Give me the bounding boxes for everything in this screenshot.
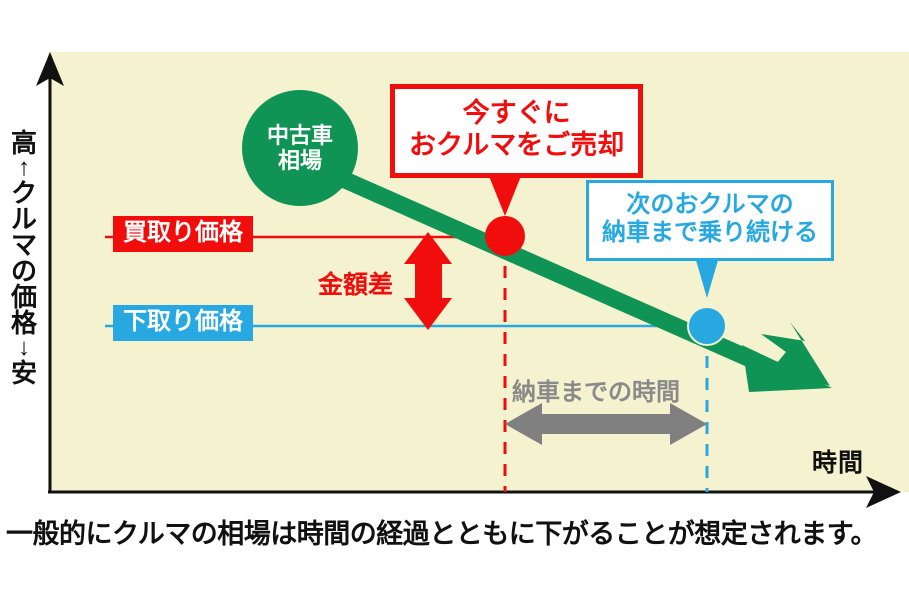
bubble-line-2: 相場 — [278, 148, 322, 173]
keep-driving-line-2: 納車まで乗り続ける — [602, 219, 818, 247]
y-axis-char-5: の — [2, 258, 46, 284]
y-axis-char-3: ル — [2, 206, 46, 232]
y-axis-char-9: 安 — [2, 360, 46, 386]
trade-price-tag: 下取り価格 — [113, 305, 253, 341]
y-axis-char-1: ↑ — [2, 156, 46, 180]
y-axis-label: 高 ↑ ク ル マ の 価 格 ↓ 安 — [2, 130, 46, 386]
sell-now-callout: 今すぐに おクルマをご売却 — [390, 84, 643, 178]
y-axis-char-7: 格 — [2, 310, 46, 336]
sell-now-line-1: 今すぐに — [409, 98, 624, 130]
infographic-root: 高 ↑ ク ル マ の 価 格 ↓ 安 時間 買取り価格 下取り価格 中古車 相… — [0, 0, 909, 607]
used-car-market-bubble: 中古車 相場 — [242, 90, 358, 206]
y-axis-char-0: 高 — [2, 130, 46, 156]
y-axis-char-6: 価 — [2, 284, 46, 310]
keep-driving-line-1: 次のおクルマの — [602, 191, 818, 219]
bubble-line-1: 中古車 — [267, 123, 333, 148]
price-gap-label: 金額差 — [318, 265, 393, 301]
delivery-time-label: 納車までの時間 — [512, 372, 680, 407]
buy-price-tag: 買取り価格 — [113, 216, 253, 252]
keep-driving-callout: 次のおクルマの 納車まで乗り続ける — [586, 180, 834, 261]
y-axis-char-2: ク — [2, 180, 46, 206]
sell-now-line-2: おクルマをご売却 — [409, 130, 624, 162]
figure-caption: 一般的にクルマの相場は時間の経過とともに下がることが想定されます。 — [6, 512, 906, 551]
y-axis-char-4: マ — [2, 232, 46, 258]
y-axis-char-8: ↓ — [2, 336, 46, 360]
x-axis-label: 時間 — [812, 443, 864, 479]
